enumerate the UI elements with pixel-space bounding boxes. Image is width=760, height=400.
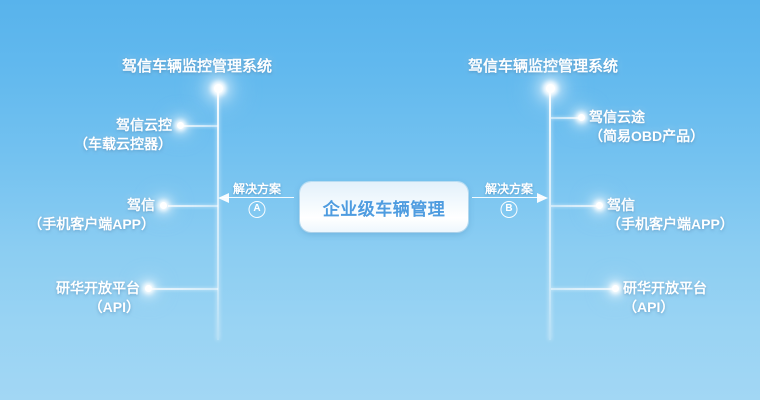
right-node-2-label: 驾信 （手机客户端APP） [607, 196, 760, 234]
right-branch-2 [551, 205, 599, 207]
left-node-3-line2: （API） [0, 298, 140, 317]
left-node-1-line1: 驾信云控 [0, 116, 172, 135]
reflection-right-api-label: （API） [623, 343, 760, 362]
left-node-3-label: 研华开放平台 （API） [0, 279, 140, 317]
left-solution-arrow: 解决方案 A [218, 180, 296, 220]
right-node-3-line2: （API） [623, 298, 760, 317]
right-branch-1 [551, 117, 581, 119]
left-node-2-dot [160, 202, 167, 209]
right-system-title: 驾信车辆监控管理系统 [468, 55, 618, 76]
reflection-left-api-label: （API） [0, 343, 140, 362]
arrow-right-icon [537, 193, 548, 203]
right-node-2-line1: 驾信 [607, 196, 760, 215]
left-solution-badge: A [249, 201, 266, 218]
right-node-3-dot [612, 285, 619, 292]
diagram-canvas: 驾信车辆监控管理系统 驾信云控 （车载云控器） 驾信 （手机客户端APP） 研华… [0, 0, 760, 400]
right-node-1-line1: 驾信云途 [589, 108, 760, 127]
left-branch-2 [168, 205, 218, 207]
right-branch-3 [551, 288, 615, 290]
right-node-2-line2: （手机客户端APP） [607, 215, 760, 234]
left-solution-rule [220, 197, 294, 198]
right-node-3-line1: 研华开放平台 [623, 279, 760, 298]
right-solution-badge: B [501, 201, 518, 218]
center-card[interactable]: 企业级车辆管理 [300, 182, 468, 232]
left-node-2-line1: 驾信 [0, 196, 155, 215]
left-node-1-line2: （车载云控器） [0, 135, 172, 154]
reflection-area: （API） （API） [0, 340, 760, 400]
left-node-3-line1: 研华开放平台 [0, 279, 140, 298]
left-node-2-label: 驾信 （手机客户端APP） [0, 196, 155, 234]
left-node-2-line2: （手机客户端APP） [0, 215, 155, 234]
right-trunk-line [549, 88, 551, 340]
arrow-left-icon [218, 193, 229, 203]
left-system-title: 驾信车辆监控管理系统 [122, 55, 272, 76]
center-card-label: 企业级车辆管理 [323, 195, 446, 220]
right-node-1-line2: （简易OBD产品） [589, 127, 760, 146]
right-node-3-label: 研华开放平台 （API） [623, 279, 760, 317]
right-solution-arrow: 解决方案 B [470, 180, 548, 220]
left-solution-label: 解决方案 [218, 180, 296, 197]
right-solution-rule [472, 197, 546, 198]
right-node-2-dot [596, 202, 603, 209]
left-node-1-dot [177, 122, 184, 129]
left-branch-3 [152, 288, 218, 290]
left-node-3-dot [145, 285, 152, 292]
left-node-1-label: 驾信云控 （车载云控器） [0, 116, 172, 154]
right-node-1-dot [578, 114, 585, 121]
right-node-1-label: 驾信云途 （简易OBD产品） [589, 108, 760, 146]
left-branch-1 [184, 125, 218, 127]
